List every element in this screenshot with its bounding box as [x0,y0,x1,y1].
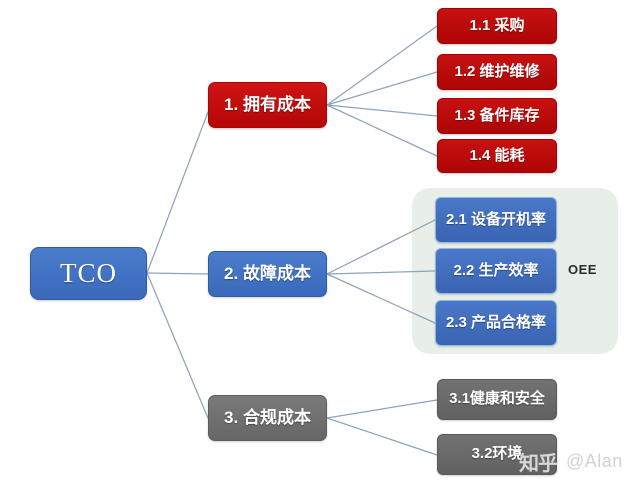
node-leaf-3-2-label: 3.2环境 [472,446,523,463]
node-leaf-1-4-label: 1.4 能耗 [469,148,524,165]
node-leaf-2-1[interactable]: 2.1 设备开机率 [435,197,557,243]
node-leaf-3-2[interactable]: 3.2环境 [437,434,557,475]
node-leaf-2-2[interactable]: 2.2 生产效率 [435,248,557,294]
node-leaf-2-1-label: 2.1 设备开机率 [446,212,546,229]
node-leaf-1-4[interactable]: 1.4 能耗 [437,139,557,173]
node-leaf-1-2-label: 1.2 维护维修 [454,64,539,81]
edge-branch-1-to-leaf-1-1 [327,26,437,105]
edge-root-to-branch-1 [147,112,208,273]
edge-branch-3-to-leaf-3-1 [327,400,437,418]
node-leaf-3-1[interactable]: 3.1健康和安全 [437,379,557,420]
node-leaf-1-3-label: 1.3 备件库存 [454,108,539,125]
node-branch-1-label: 1. 拥有成本 [224,96,311,115]
node-branch-2-label: 2. 故障成本 [224,265,311,284]
edge-branch-2-to-leaf-2-2 [327,271,435,274]
node-leaf-2-3[interactable]: 2.3 产品合格率 [435,300,557,346]
node-leaf-1-1[interactable]: 1.1 采购 [437,8,557,44]
edge-root-to-branch-2 [147,273,208,274]
node-branch-2[interactable]: 2. 故障成本 [208,251,327,297]
edge-branch-2-to-leaf-2-1 [327,220,435,274]
node-branch-1[interactable]: 1. 拥有成本 [208,82,327,128]
node-leaf-1-3[interactable]: 1.3 备件库存 [437,98,557,134]
edge-branch-2-to-leaf-2-3 [327,274,435,323]
node-leaf-2-3-label: 2.3 产品合格率 [446,315,546,332]
node-root-tco-label: TCO [60,259,117,289]
node-root-tco[interactable]: TCO [30,247,147,300]
node-leaf-1-2[interactable]: 1.2 维护维修 [437,54,557,90]
edge-root-to-branch-3 [147,273,208,418]
edge-branch-1-to-leaf-1-2 [327,72,437,105]
node-leaf-2-2-label: 2.2 生产效率 [453,263,538,280]
node-branch-3[interactable]: 3. 合规成本 [208,395,327,441]
node-leaf-1-1-label: 1.1 采购 [469,18,524,35]
edge-branch-1-to-leaf-1-3 [327,105,437,116]
node-branch-3-label: 3. 合规成本 [224,409,311,428]
node-leaf-3-1-label: 3.1健康和安全 [449,391,545,408]
diagram-canvas: OEE TCO 1. 拥有成本 2. 故障成本 3. 合规成本 1.1 采购 1… [0,0,632,484]
oee-group-label: OEE [568,262,597,277]
edge-branch-1-to-leaf-1-4 [327,105,437,156]
edge-branch-3-to-leaf-3-2 [327,418,437,455]
